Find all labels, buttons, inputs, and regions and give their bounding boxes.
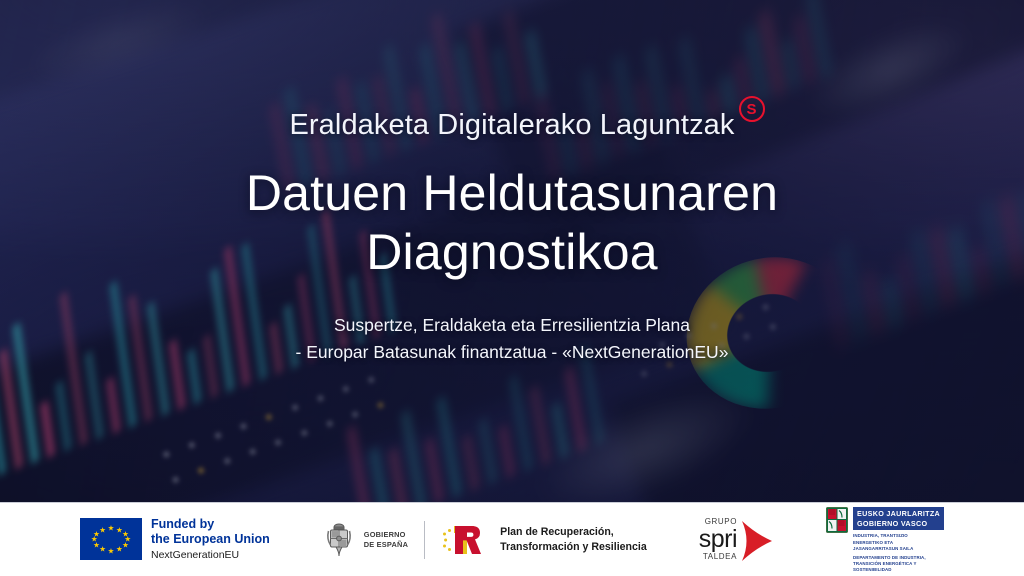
basque-sub-line-2: ENERGETIKO ETA: [853, 540, 893, 545]
funding-tagline-line-2: - Europar Batasunak finantzatua - «NextG…: [296, 342, 729, 362]
eu-star-icon: ★: [122, 541, 129, 549]
spri-text-wordmark: spri: [699, 527, 737, 552]
funding-tagline: Suspertze, Eraldaketa eta Erresilientzia…: [296, 312, 729, 365]
logo-european-union: ★★★★★★★★★★★★ Funded by the European Unio…: [80, 517, 270, 562]
basque-government-name-bar: EUSKO JAURLARITZA GOBIERNO VASCO: [853, 507, 944, 530]
subsidy-badge-icon: S: [739, 96, 765, 122]
logo-eusko-jaurlaritza: EUSKO JAURLARITZA GOBIERNO VASCO INDUSTR…: [826, 503, 944, 575]
programme-eyebrow-text: Eraldaketa Digitalerako Laguntzak: [289, 109, 734, 141]
basque-government-crest-icon: [826, 507, 848, 533]
spain-coat-of-arms-icon: [322, 520, 356, 560]
eu-star-icon: ★: [108, 524, 115, 532]
logo-grupo-spri-taldea: GRUPO spri TALDEA: [699, 518, 774, 561]
eu-text-line-1: Funded by: [151, 517, 270, 532]
basque-sub-line-3: JASANGARRITASUN SAILA: [853, 546, 913, 551]
eu-logo-text: Funded by the European Union NextGenerat…: [151, 517, 270, 562]
eu-text-line-3: NextGenerationEU: [151, 549, 270, 562]
basque-bar-line-2: GOBIERNO VASCO: [857, 519, 940, 529]
eu-star-icon: ★: [116, 546, 123, 554]
spri-arrow-icon: [740, 520, 774, 560]
basque-dept-es: DEPARTAMENTO DE INDUSTRIA, TRANSICIÓN EN…: [853, 555, 944, 574]
basque-sub-line-4: DEPARTAMENTO DE INDUSTRIA,: [853, 555, 926, 560]
page-title-line-1: Datuen Heldutasunaren: [246, 165, 778, 221]
logo-divider: [424, 521, 425, 559]
footer-logo-strip: ★★★★★★★★★★★★ Funded by the European Unio…: [0, 502, 1024, 576]
eu-star-icon: ★: [108, 547, 115, 555]
prtr-text-line-1: Plan de Recuperación,: [500, 525, 647, 539]
basque-department-text: INDUSTRIA, TRANTSIZIO ENERGETIKO ETA JAS…: [853, 533, 944, 573]
spri-logo-text: GRUPO spri TALDEA: [699, 518, 737, 561]
prtr-logo-text: Plan de Recuperación, Transformación y R…: [500, 525, 647, 554]
gov-text-line-1: GOBIERNO: [364, 530, 408, 540]
eu-star-icon: ★: [99, 526, 106, 534]
programme-eyebrow: Eraldaketa Digitalerako Laguntzak S: [289, 109, 734, 142]
funding-tagline-line-1: Suspertze, Eraldaketa eta Erresilientzia…: [334, 315, 690, 335]
eu-text-line-2: the European Union: [151, 532, 270, 547]
spri-text-taldea: TALDEA: [699, 553, 737, 561]
basque-government-text: EUSKO JAURLARITZA GOBIERNO VASCO INDUSTR…: [853, 507, 944, 575]
page-title: Datuen Heldutasunaren Diagnostikoa: [246, 164, 778, 282]
prtr-mark-icon: [441, 520, 485, 560]
slide-canvas: Eraldaketa Digitalerako Laguntzak S Datu…: [0, 0, 1024, 576]
gobierno-de-espana-text: GOBIERNO DE ESPAÑA: [364, 530, 408, 549]
basque-sub-line-5: TRANSICIÓN ENERGÉTICA Y: [853, 561, 917, 566]
title-block: Eraldaketa Digitalerako Laguntzak S Datu…: [0, 0, 1024, 500]
eu-star-icon: ★: [99, 546, 106, 554]
logo-gobierno-de-espana-prtr: GOBIERNO DE ESPAÑA: [322, 520, 647, 560]
prtr-text-line-2: Transformación y Resiliencia: [500, 540, 647, 554]
page-title-line-2: Diagnostikoa: [366, 224, 657, 280]
basque-sub-line-1: INDUSTRIA, TRANTSIZIO: [853, 533, 908, 538]
basque-sub-line-6: SOSTENIBILIDAD: [853, 567, 891, 572]
basque-bar-line-1: EUSKO JAURLARITZA: [857, 509, 940, 519]
gov-text-line-2: DE ESPAÑA: [364, 540, 408, 550]
basque-dept-eu: INDUSTRIA, TRANTSIZIO ENERGETIKO ETA JAS…: [853, 533, 944, 552]
eu-flag-icon: ★★★★★★★★★★★★: [80, 518, 142, 560]
